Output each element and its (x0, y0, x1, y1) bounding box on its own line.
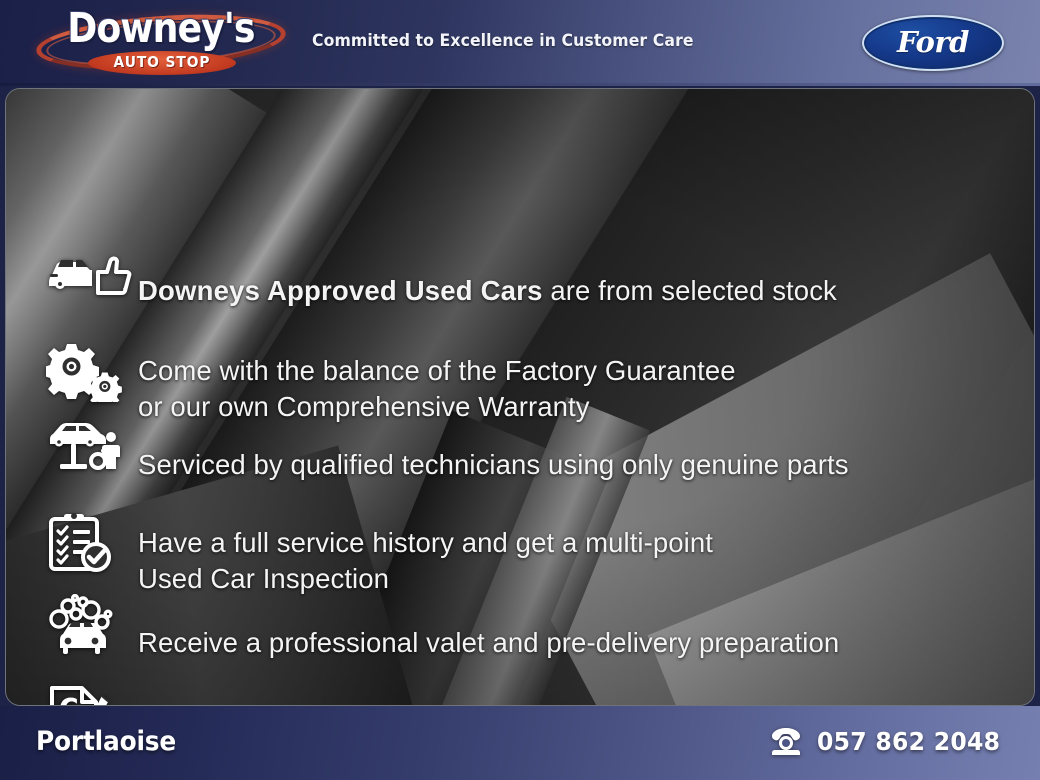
car-thumbs-up-icon (46, 242, 138, 304)
benefit-row: Have a full service history and get a mu… (46, 489, 713, 596)
header-tagline: Committed to Excellence in Customer Care (312, 31, 694, 50)
benefit-row: Downeys Approved Used Cars are from sele… (46, 237, 837, 309)
car-wash-bubbles-icon (46, 594, 138, 656)
clipboard-checklist-icon (46, 512, 138, 574)
contact-phone[interactable]: 057 862 2048 (769, 726, 1012, 756)
ford-wordmark: Ford (862, 24, 1004, 62)
benefit-text-rest: Serviced by qualified technicians using … (138, 449, 849, 480)
benefit-row: Receive a professional valet and pre-del… (46, 589, 839, 661)
dealer-location: Portlaoise (36, 726, 176, 757)
benefit-text: Serviced by qualified technicians using … (138, 411, 849, 483)
content-panel: Downeys Approved Used Cars are from sele… (5, 88, 1035, 706)
downeys-logo: Downey's AUTO STOP (32, 6, 290, 80)
telephone-icon (769, 726, 803, 756)
benefit-text: Offered with competitive finance rates a… (138, 679, 766, 706)
advert-canvas: Downey's AUTO STOP Committed to Excellen… (0, 0, 1040, 780)
benefit-text-rest: are from selected stock (543, 275, 837, 306)
benefit-text: Come with the balance of the Factory Gua… (138, 317, 736, 424)
benefits-list: Downeys Approved Used Cars are from sele… (6, 89, 1034, 705)
logo-subtext: AUTO STOP (94, 53, 230, 71)
benefit-row: Serviced by qualified technicians using … (46, 411, 849, 483)
car-lift-technician-icon (46, 416, 138, 478)
ford-logo: Ford (862, 15, 1004, 71)
benefit-row: Come with the balance of the Factory Gua… (46, 317, 736, 424)
benefit-text-rest: Have a full service history and get a mu… (138, 527, 713, 594)
logo-wordmark: Downey's (47, 4, 274, 52)
phone-number: 057 862 2048 (817, 727, 1000, 756)
benefit-text-rest: Receive a professional valet and pre-del… (138, 627, 839, 658)
benefit-text-bold: Downeys Approved Used Cars (138, 275, 543, 306)
benefit-text: Have a full service history and get a mu… (138, 489, 713, 596)
benefit-text: Downeys Approved Used Cars are from sele… (138, 237, 837, 309)
euro-finance-document-icon: € (46, 684, 138, 706)
footer-bar: Portlaoise 057 862 2048 (0, 706, 1040, 780)
benefit-text: Receive a professional valet and pre-del… (138, 589, 839, 661)
gears-icon (46, 340, 138, 402)
svg-text:€: € (57, 693, 79, 706)
benefit-row: € Offered with competitive finance rates… (46, 679, 766, 706)
header-bar: Downey's AUTO STOP Committed to Excellen… (0, 0, 1040, 86)
